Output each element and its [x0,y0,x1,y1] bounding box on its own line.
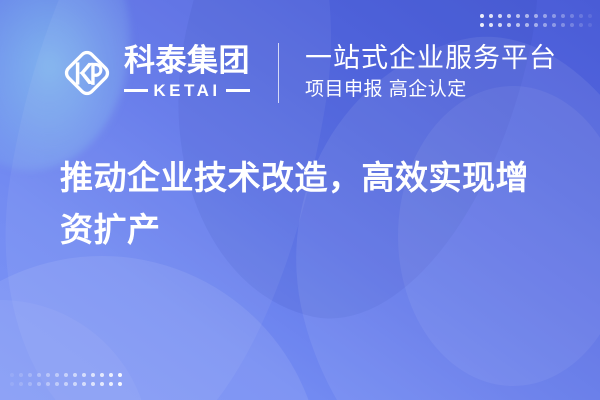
dot [534,14,538,18]
wordmark-rule-right [226,89,250,92]
dot [507,14,511,18]
dot-row [10,373,122,377]
dot [489,14,493,18]
dot [109,382,113,386]
dot-row [480,23,592,27]
dot [489,23,493,27]
brand-wordmark: 科泰集团 KETAI [124,45,250,101]
dot [552,23,556,27]
promo-banner: 科泰集团 KETAI 一站式企业服务平台 项目申报 高企认定 推动企业技术改造，… [0,0,600,400]
tagline-sub: 项目申报 高企认定 [305,78,557,103]
dot [109,373,113,377]
dot [37,373,41,377]
dot [10,373,14,377]
dot-row [10,382,122,386]
dot [534,23,538,27]
wordmark-rule-left [124,89,148,92]
dot [561,23,565,27]
dot [525,14,529,18]
dot [19,382,23,386]
brand-name-cn: 科泰集团 [124,45,250,78]
dot [507,23,511,27]
tagline-block: 一站式企业服务平台 项目申报 高企认定 [305,43,557,103]
header-divider [278,43,279,103]
dot [588,14,592,18]
banner-header: 科泰集团 KETAI 一站式企业服务平台 项目申报 高企认定 [56,38,557,108]
dot-row [480,14,592,18]
dot [73,373,77,377]
dot [118,373,122,377]
dot [588,23,592,27]
dot [579,14,583,18]
dot [543,14,547,18]
dot [82,373,86,377]
dot [570,14,574,18]
dot [46,373,50,377]
dot [73,382,77,386]
dot [118,382,122,386]
dot [498,14,502,18]
dot [19,373,23,377]
dot [561,14,565,18]
dot [516,14,520,18]
dot [91,382,95,386]
dot [10,382,14,386]
dot-grid-top-right [480,14,592,27]
dot [64,382,68,386]
dot [498,23,502,27]
dot [480,23,484,27]
dot [516,23,520,27]
dot-grid-bottom-left [10,373,122,386]
dot [55,382,59,386]
dot [570,23,574,27]
dot [37,382,41,386]
dot [100,373,104,377]
brand-name-en-row: KETAI [124,81,250,101]
dot [28,373,32,377]
brand-logo[interactable]: 科泰集团 KETAI [56,38,250,108]
dot [579,23,583,27]
dot [480,14,484,18]
banner-headline: 推动企业技术改造，高效实现增资扩产 [60,152,560,256]
dot [543,23,547,27]
dot [46,382,50,386]
brand-name-en: KETAI [153,81,220,101]
ketai-diamond-kp-monogram-icon [56,42,118,104]
dot [525,23,529,27]
dot [55,373,59,377]
dot [552,14,556,18]
dot [100,382,104,386]
dot [82,382,86,386]
dot [28,382,32,386]
dot [64,373,68,377]
tagline-main: 一站式企业服务平台 [305,43,557,75]
dot [91,373,95,377]
